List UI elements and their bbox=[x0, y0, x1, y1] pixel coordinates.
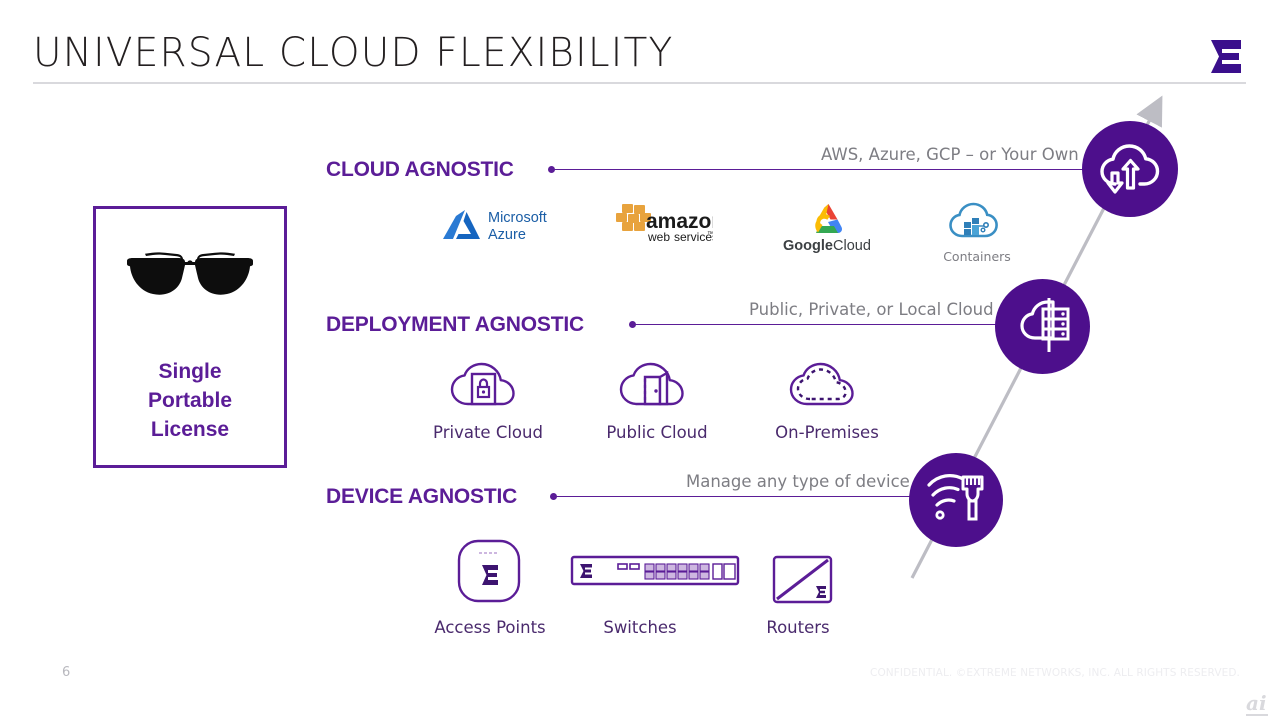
label-routers: Routers bbox=[720, 618, 876, 637]
ai-watermark: ai bbox=[1246, 693, 1268, 716]
aws-logo-icon: amazon web services ™ bbox=[608, 202, 713, 246]
license-card-text: Single Portable License bbox=[96, 357, 284, 444]
section-heading-cloud-agnostic: CLOUD AGNOSTIC bbox=[326, 158, 514, 182]
svg-text:Google: Google bbox=[783, 238, 833, 254]
item-private-cloud: Private Cloud bbox=[413, 360, 563, 442]
cloud-server-rack-icon bbox=[1013, 296, 1073, 358]
caption-device-agnostic: Manage any type of device bbox=[686, 472, 910, 491]
ai-watermark-text: ai bbox=[1246, 691, 1267, 715]
aviator-sunglasses-icon bbox=[125, 247, 255, 309]
router-icon bbox=[746, 535, 856, 607]
extreme-e-logo-icon bbox=[1206, 36, 1246, 76]
item-access-points: Access Points bbox=[415, 535, 565, 637]
item-routers: Routers bbox=[726, 535, 876, 637]
item-switches: Switches bbox=[570, 535, 720, 637]
slide-canvas: UNIVERSAL CLOUD FLEXIBILITY Single Porta… bbox=[0, 0, 1280, 722]
page-title: UNIVERSAL CLOUD FLEXIBILITY bbox=[33, 30, 674, 76]
label-private-cloud: Private Cloud bbox=[413, 423, 563, 442]
page-number: 6 bbox=[62, 665, 70, 680]
license-line-2: Portable bbox=[96, 386, 284, 415]
confidential-notice: CONFIDENTIAL. ©EXTREME NETWORKS, INC. AL… bbox=[870, 667, 1240, 679]
item-public-cloud: Public Cloud bbox=[582, 360, 732, 442]
svg-text:Azure: Azure bbox=[488, 227, 526, 243]
connector-line-device bbox=[555, 496, 955, 498]
microsoft-azure-logo-icon: Microsoft Azure bbox=[440, 205, 558, 247]
wifi-ethernet-plug-icon bbox=[925, 471, 987, 529]
label-public-cloud: Public Cloud bbox=[582, 423, 732, 442]
license-line-1: Single bbox=[96, 357, 284, 386]
badge-deployment-agnostic bbox=[995, 279, 1090, 374]
svg-text:Cloud: Cloud bbox=[833, 238, 871, 254]
label-on-premises: On-Premises bbox=[752, 423, 902, 442]
logo-aws: amazon web services ™ bbox=[608, 202, 713, 251]
svg-text:™: ™ bbox=[707, 231, 713, 238]
item-on-premises: On-Premises bbox=[752, 360, 902, 442]
caption-cloud-agnostic: AWS, Azure, GCP – or Your Own bbox=[821, 145, 1079, 164]
label-access-points: Access Points bbox=[415, 618, 565, 637]
switch-icon bbox=[570, 535, 740, 607]
logo-microsoft-azure: Microsoft Azure bbox=[440, 205, 558, 252]
cloud-lock-icon bbox=[443, 360, 533, 412]
connector-line-deployment bbox=[634, 324, 1034, 326]
caption-deployment-agnostic: Public, Private, or Local Cloud bbox=[749, 300, 994, 319]
svg-text:Microsoft: Microsoft bbox=[488, 210, 547, 226]
logo-google-cloud: Google Cloud bbox=[781, 200, 877, 259]
containers-cloud-icon bbox=[941, 198, 1013, 242]
google-cloud-logo-icon: Google Cloud bbox=[781, 200, 877, 254]
license-line-3: License bbox=[96, 415, 284, 444]
header-divider bbox=[33, 82, 1246, 84]
containers-caption: Containers bbox=[941, 249, 1013, 264]
label-switches: Switches bbox=[560, 618, 720, 637]
logo-containers: Containers bbox=[941, 198, 1013, 264]
cloud-door-icon bbox=[612, 360, 702, 412]
dashed-cloud-icon bbox=[782, 360, 872, 412]
svg-text:web: web bbox=[647, 230, 670, 244]
section-heading-deployment-agnostic: DEPLOYMENT AGNOSTIC bbox=[326, 313, 584, 337]
single-portable-license-card: Single Portable License bbox=[93, 206, 287, 468]
badge-device-agnostic bbox=[909, 453, 1003, 547]
cloud-sync-arrows-icon bbox=[1099, 140, 1161, 198]
badge-cloud-agnostic bbox=[1082, 121, 1178, 217]
connector-line-cloud bbox=[553, 169, 1113, 171]
section-heading-device-agnostic: DEVICE AGNOSTIC bbox=[326, 485, 517, 509]
access-point-icon bbox=[451, 535, 529, 607]
